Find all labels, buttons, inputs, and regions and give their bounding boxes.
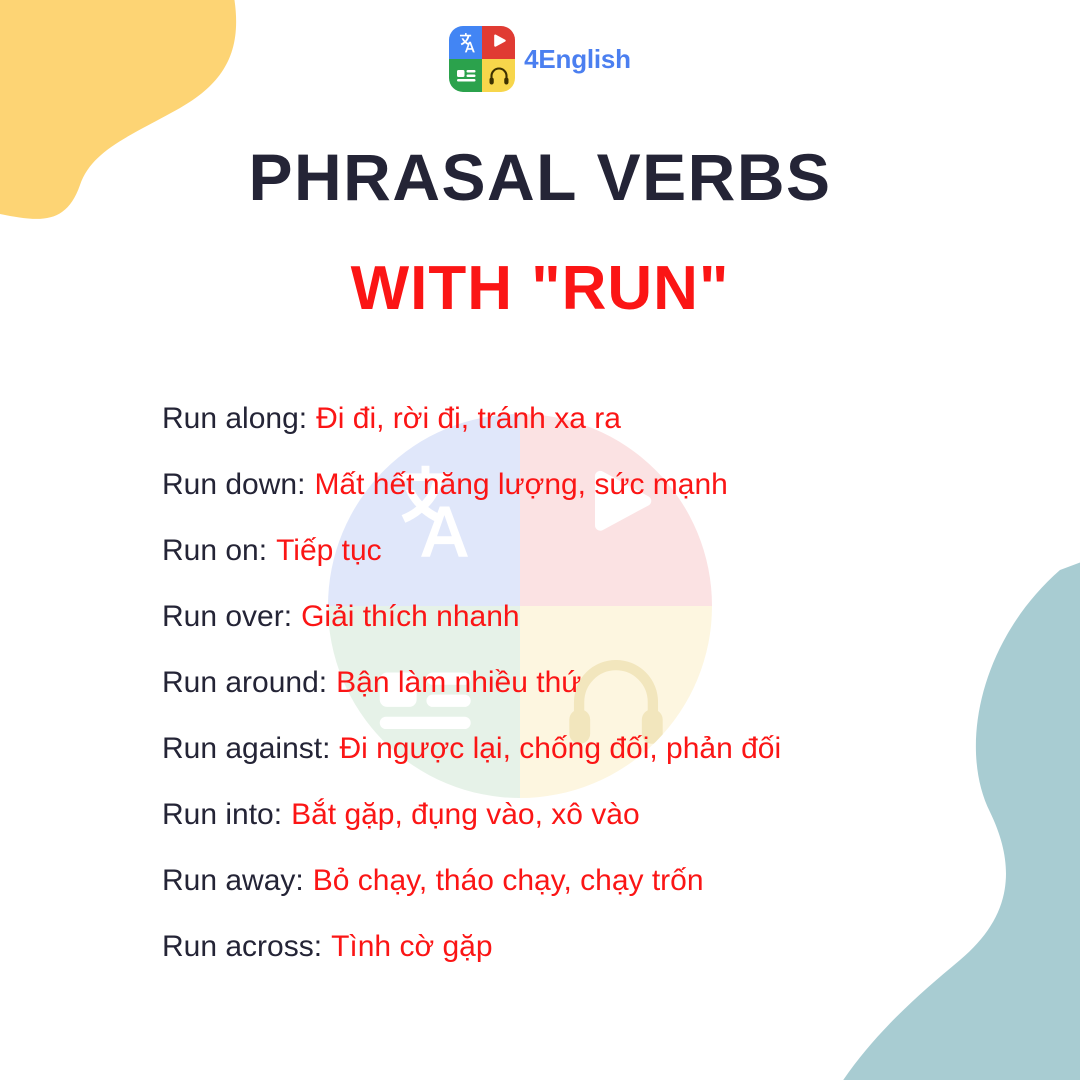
phrasal-verb-meaning: Đi ngược lại, chống đối, phản đối [339,731,781,766]
phrasal-verb-meaning: Giải thích nhanh [301,599,519,634]
phrasal-verb-term: Run into: [162,797,282,832]
list-item: Run away: Bỏ chạy, tháo chạy, chạy trốn [162,848,1062,914]
phrasal-verb-meaning: Tình cờ gặp [331,929,492,964]
poster-canvas: 4English PHRASAL VERBS WITH "RUN" Run al… [0,0,1080,1080]
page-subtitle: WITH "RUN" [0,258,1080,320]
phrasal-verb-meaning: Bắt gặp, đụng vào, xô vào [291,797,640,832]
phrasal-verb-meaning: Tiếp tục [276,533,382,568]
phrasal-verb-meaning: Mất hết năng lượng, sức mạnh [314,467,727,502]
phrasal-verb-term: Run on: [162,533,267,568]
phrasal-verb-term: Run along: [162,401,307,436]
article-icon [449,59,482,92]
phrasal-verb-list: Run along: Đi đi, rời đi, tránh xa ra Ru… [162,386,1062,980]
logo-quadrant-video [482,26,515,59]
list-item: Run over: Giải thích nhanh [162,584,1062,650]
translate-icon [449,26,482,59]
list-item: Run down: Mất hết năng lượng, sức mạnh [162,452,1062,518]
phrasal-verb-meaning: Đi đi, rời đi, tránh xa ra [316,401,621,436]
phrasal-verb-term: Run over: [162,599,292,634]
phrasal-verb-term: Run across: [162,929,322,964]
brand-name: 4English [524,46,631,72]
page-title: PHRASAL VERBS [0,144,1080,210]
list-item: Run along: Đi đi, rời đi, tránh xa ra [162,386,1062,452]
phrasal-verb-term: Run against: [162,731,330,766]
list-item: Run against: Đi ngược lại, chống đối, ph… [162,716,1062,782]
headphones-icon [482,59,515,92]
logo-quadrant-article [449,59,482,92]
phrasal-verb-term: Run away: [162,863,304,898]
list-item: Run into: Bắt gặp, đụng vào, xô vào [162,782,1062,848]
brand-header: 4English [0,26,1080,92]
phrasal-verb-term: Run down: [162,467,305,502]
logo-quadrant-translate [449,26,482,59]
list-item: Run across: Tình cờ gặp [162,914,1062,980]
list-item: Run around: Bận làm nhiều thứ [162,650,1062,716]
logo-quadrant-audio [482,59,515,92]
phrasal-verb-meaning: Bỏ chạy, tháo chạy, chạy trốn [313,863,704,898]
phrasal-verb-meaning: Bận làm nhiều thứ [336,665,581,700]
phrasal-verb-term: Run around: [162,665,327,700]
list-item: Run on: Tiếp tục [162,518,1062,584]
brand-logo-mark [449,26,515,92]
play-icon [482,26,515,59]
